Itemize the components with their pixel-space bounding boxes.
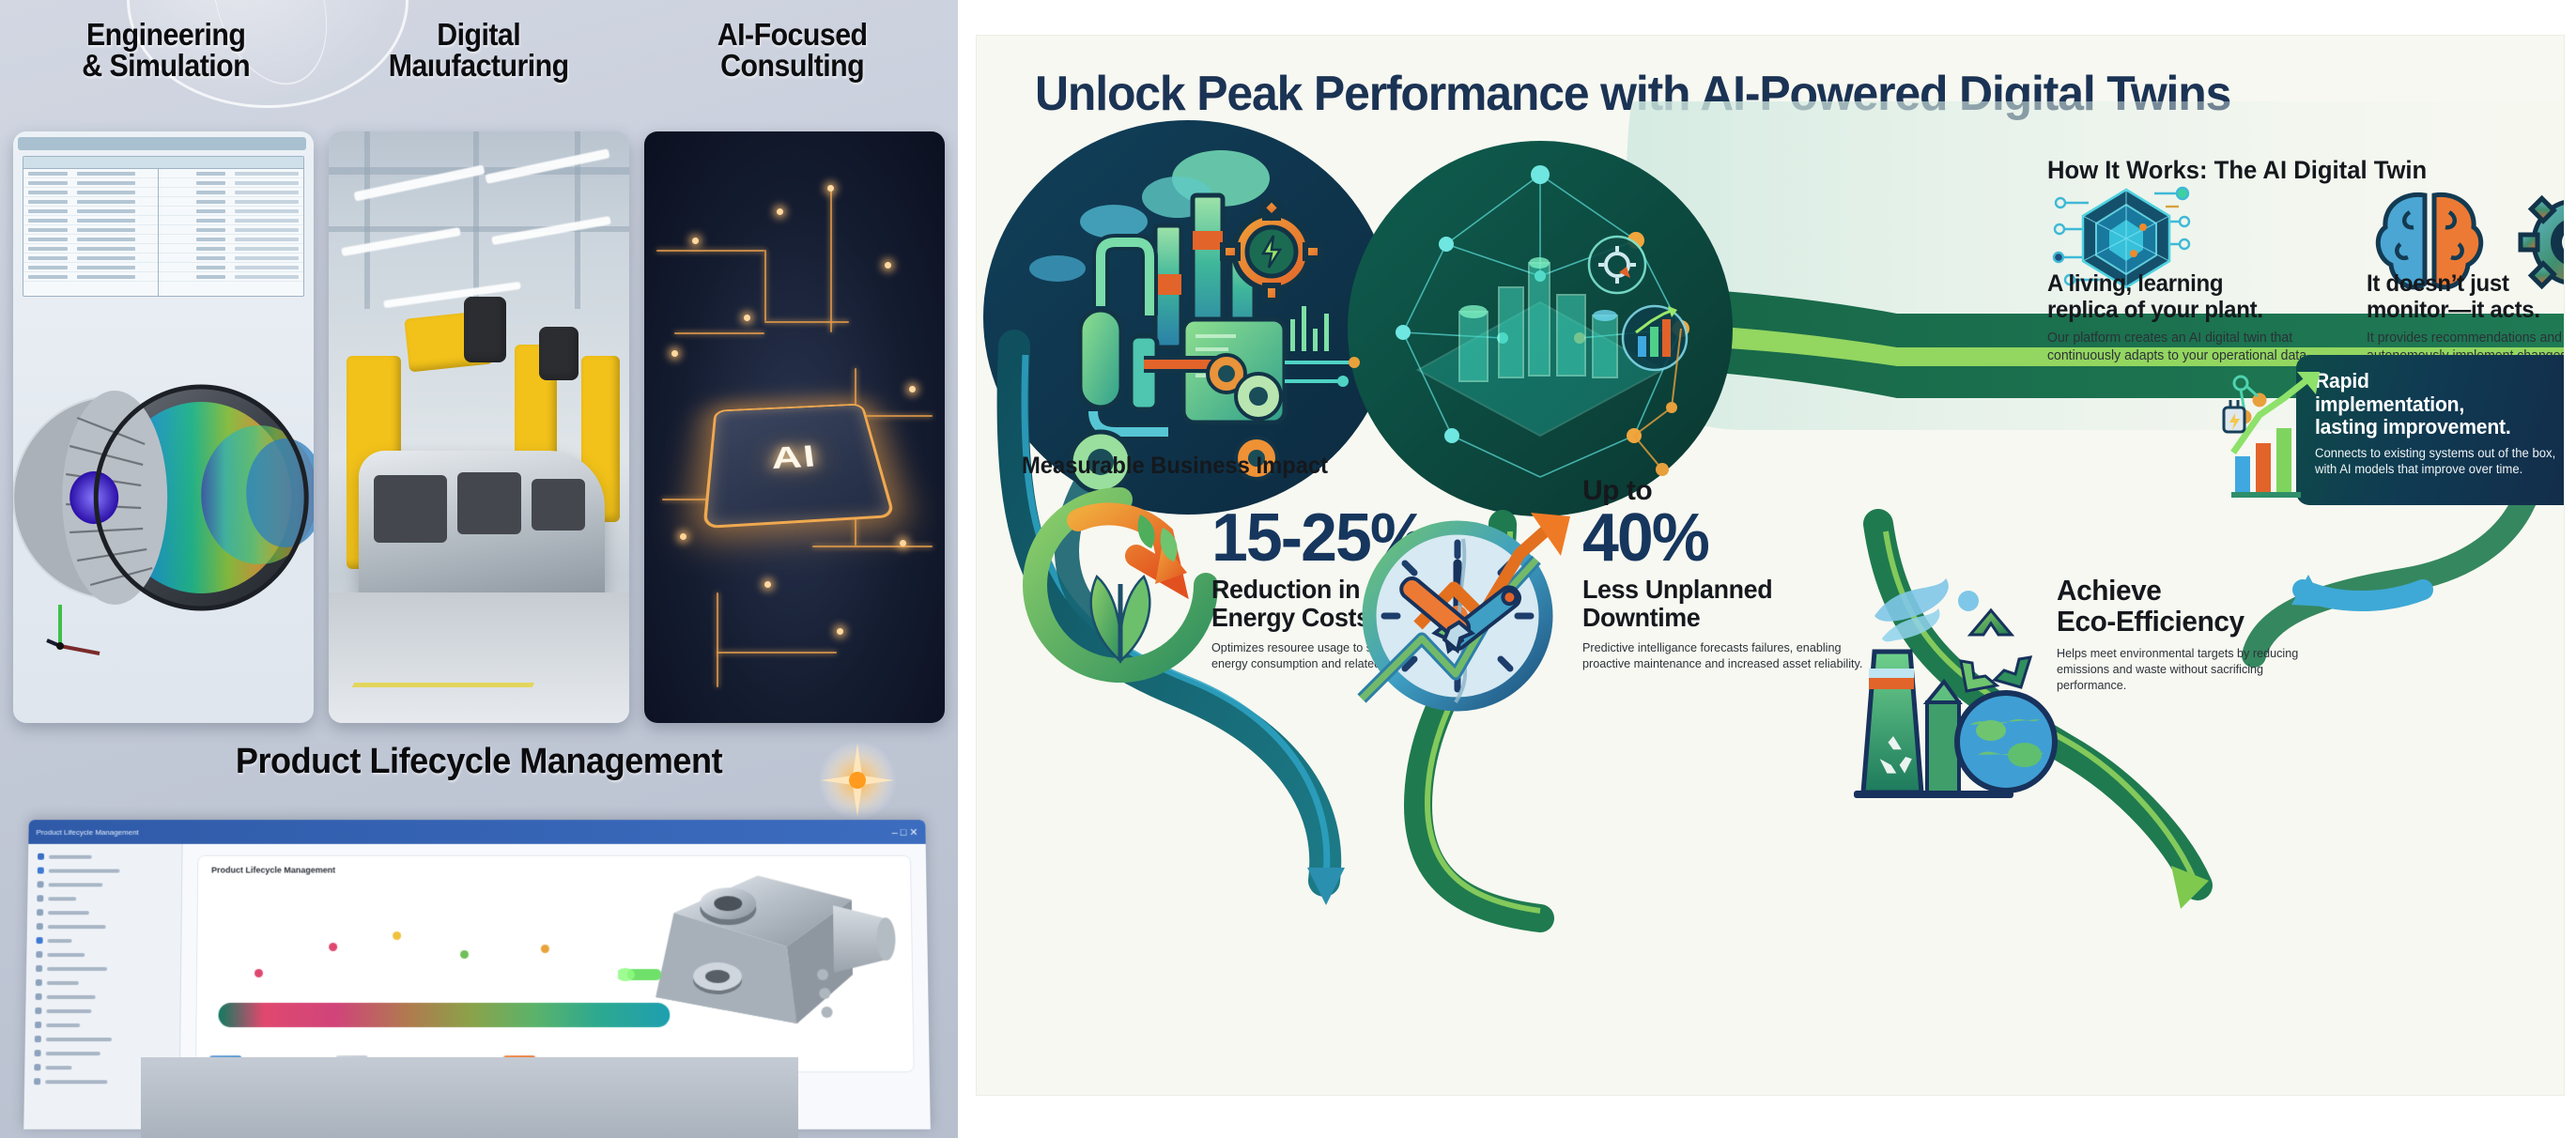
stat-eco-efficiency: Achieve Eco-Efficiency Helps meet enviro… (2057, 571, 2348, 693)
sidebar-item[interactable] (32, 850, 178, 864)
stat-downtime-label: Less Unplanned Downtime (1582, 576, 1880, 632)
plm-section-title: Product Lifecycle Management (24, 742, 934, 782)
sidebar-item[interactable] (31, 919, 177, 933)
sidebar-item[interactable] (29, 1004, 176, 1018)
monitor-stand (141, 1057, 798, 1138)
stat-downtime-desc: Predictive intelligance forecasts failur… (1582, 639, 1865, 671)
digital-twin-illustration (1362, 154, 1719, 503)
leaf-cycle-icon (1022, 486, 1219, 684)
ai-chip-label: AI (771, 439, 819, 477)
pump-cad-model (617, 857, 901, 1053)
car-body-shell (359, 451, 605, 605)
rapid-implementation-body: Connects to existing systems out of the … (2315, 445, 2564, 478)
plm-window-title: Product Lifecycle Management (36, 828, 138, 837)
window-buttons[interactable]: – □ ✕ (891, 826, 918, 838)
right-panel: Unlock Peak Performance with AI-Powered … (958, 0, 2576, 1138)
stat-eco-label: Achieve Eco-Efficiency (2057, 575, 2337, 638)
rapid-implementation-heading: Rapid implementation, lasting improvemen… (2315, 370, 2564, 439)
how-it-works-item-2-heading: It doesn’t just monitor—it acts. (2367, 270, 2564, 323)
growth-chart-plug-icon (2216, 366, 2348, 498)
sidebar-item[interactable] (29, 990, 176, 1004)
cae-titlebar (18, 137, 306, 150)
how-it-works-item-1-heading: A living, learning replica of your plant… (2047, 270, 2336, 323)
clock-wrench-trend-icon (1352, 505, 1587, 740)
infographic-stage: Engineering & Simulation Digital Maıufac… (0, 0, 2576, 1138)
service-headings: Engineering & Simulation Digital Maıufac… (0, 19, 958, 81)
left-panel: Engineering & Simulation Digital Maıufac… (0, 0, 958, 1138)
sidebar-item[interactable] (31, 905, 177, 919)
digital-twin-infographic: Unlock Peak Performance with AI-Powered … (977, 36, 2564, 1095)
sidebar-item[interactable] (31, 891, 177, 905)
service-heading-engineering: Engineering & Simulation (22, 19, 310, 81)
how-it-works-item-1: A living, learning replica of your plant… (2047, 270, 2348, 366)
stat-downtime-value: 40% (1582, 505, 1883, 572)
sparkle-icon (815, 738, 900, 823)
ai-chip-image: AI (644, 131, 945, 723)
sidebar-item[interactable] (31, 878, 177, 892)
sidebar-item[interactable] (30, 976, 177, 990)
lifecycle-gradient-rail (218, 1003, 670, 1027)
sidebar-item[interactable] (29, 1018, 177, 1032)
service-heading-consulting: AI-Focused Consulting (648, 19, 936, 81)
how-it-works-item-1-body: Our platform creates an AI digital twin … (2047, 330, 2338, 366)
sidebar-item[interactable] (32, 864, 178, 878)
cae-simulation-image (13, 131, 314, 723)
cae-data-table (23, 156, 304, 297)
sidebar-item[interactable] (29, 1032, 177, 1046)
stat-eco-desc: Helps meet environmental targets by redu… (2057, 645, 2321, 693)
service-heading-manufacturing: Digital Maıufacturing (335, 19, 624, 81)
digital-manufacturing-image (329, 131, 629, 723)
sidebar-item[interactable] (30, 947, 177, 961)
coordinate-axis-icon (43, 595, 109, 661)
recycle-globe-icon (1841, 561, 2075, 806)
ai-chip: AI (703, 403, 896, 528)
business-impact-heading: Measurable Business Impact (1022, 453, 1328, 480)
service-image-cards: AI (13, 131, 945, 723)
sidebar-item[interactable] (30, 961, 177, 976)
plm-window-titlebar: Product Lifecycle Management – □ ✕ (28, 820, 925, 844)
sidebar-item[interactable] (30, 933, 177, 947)
